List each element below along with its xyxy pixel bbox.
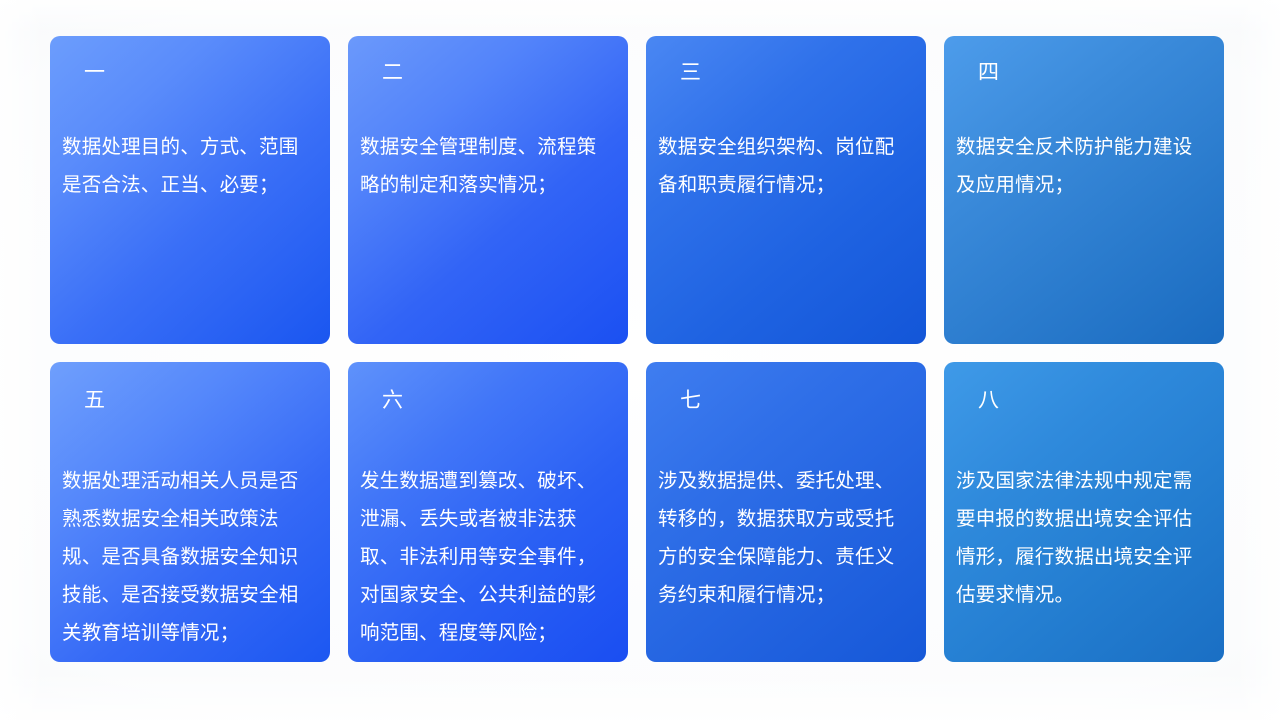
info-card-5[interactable]: 五 数据处理活动相关人员是否熟悉数据安全相关政策法规、是否具备数据安全知识技能、… <box>50 362 330 662</box>
card-body-text: 涉及国家法律法规中规定需要申报的数据出境安全评估情形，履行数据出境安全评估要求情… <box>956 462 1212 614</box>
card-numeral: 二 <box>382 62 404 83</box>
card-numeral: 三 <box>680 62 702 83</box>
info-card-8[interactable]: 八 涉及国家法律法规中规定需要申报的数据出境安全评估情形，履行数据出境安全评估要… <box>944 362 1224 662</box>
info-card-3[interactable]: 三 数据安全组织架构、岗位配备和职责履行情况； <box>646 36 926 344</box>
card-body-text: 数据安全反术防护能力建设及应用情况； <box>956 128 1212 204</box>
card-body-text: 发生数据遭到篡改、破坏、泄漏、丢失或者被非法获取、非法利用等安全事件，对国家安全… <box>360 462 616 652</box>
info-card-4[interactable]: 四 数据安全反术防护能力建设及应用情况； <box>944 36 1224 344</box>
card-body-text: 数据安全管理制度、流程策略的制定和落实情况； <box>360 128 616 204</box>
card-numeral: 七 <box>680 390 702 411</box>
slide-canvas: 一 数据处理目的、方式、范围是否合法、正当、必要； 二 数据安全管理制度、流程策… <box>0 0 1280 720</box>
card-body-text: 数据处理目的、方式、范围是否合法、正当、必要； <box>62 128 318 204</box>
card-numeral: 五 <box>84 390 106 411</box>
card-grid: 一 数据处理目的、方式、范围是否合法、正当、必要； 二 数据安全管理制度、流程策… <box>50 36 1230 662</box>
info-card-1[interactable]: 一 数据处理目的、方式、范围是否合法、正当、必要； <box>50 36 330 344</box>
info-card-7[interactable]: 七 涉及数据提供、委托处理、转移的，数据获取方或受托方的安全保障能力、责任义务约… <box>646 362 926 662</box>
card-numeral: 八 <box>978 390 1000 411</box>
card-body-text: 数据安全组织架构、岗位配备和职责履行情况； <box>658 128 914 204</box>
info-card-2[interactable]: 二 数据安全管理制度、流程策略的制定和落实情况； <box>348 36 628 344</box>
info-card-6[interactable]: 六 发生数据遭到篡改、破坏、泄漏、丢失或者被非法获取、非法利用等安全事件，对国家… <box>348 362 628 662</box>
card-body-text: 涉及数据提供、委托处理、转移的，数据获取方或受托方的安全保障能力、责任义务约束和… <box>658 462 914 614</box>
card-numeral: 四 <box>978 62 1000 83</box>
card-numeral: 六 <box>382 390 404 411</box>
card-body-text: 数据处理活动相关人员是否熟悉数据安全相关政策法规、是否具备数据安全知识技能、是否… <box>62 462 318 652</box>
card-numeral: 一 <box>84 62 106 83</box>
